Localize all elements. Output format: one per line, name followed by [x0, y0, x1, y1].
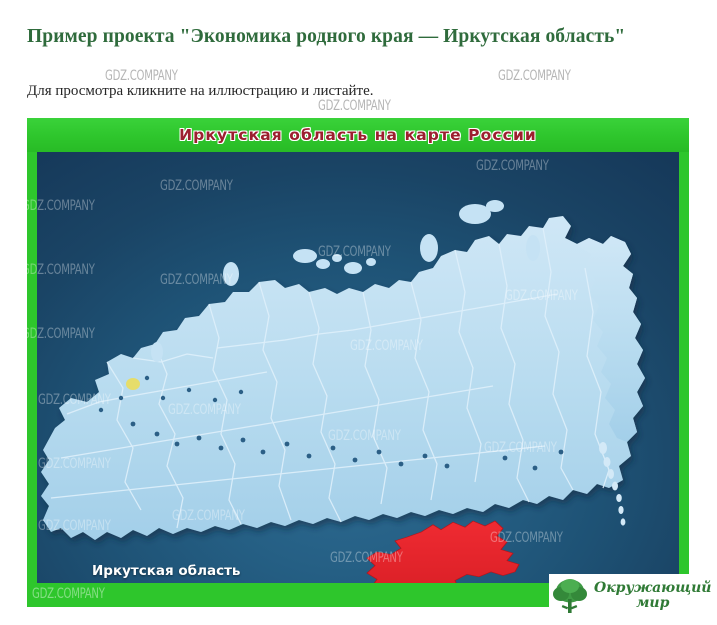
watermark: GDZ.COMPANY	[105, 68, 178, 84]
map-bottom-strip	[27, 583, 548, 607]
russia-map-graphic	[37, 152, 679, 583]
tree-icon	[549, 575, 591, 617]
watermark: GDZ.COMPANY	[318, 98, 391, 114]
map-canvas[interactable]	[37, 152, 679, 583]
russia-landmass	[41, 216, 645, 540]
brand-line-1: Окружающий	[594, 580, 711, 596]
map-illustration[interactable]: Иркутская область на карте России	[27, 118, 689, 607]
brand-line-2: мир	[594, 596, 711, 611]
capital-marker-moscow	[126, 378, 140, 390]
page-title: Пример проекта "Экономика родного края —…	[27, 24, 627, 49]
map-banner-title: Иркутская область на карте России	[179, 126, 537, 144]
watermark: GDZ.COMPANY	[498, 68, 571, 84]
irkutsk-region-highlight	[367, 521, 519, 583]
map-banner: Иркутская область на карте России	[27, 118, 689, 152]
map-region-label: Иркутская область	[92, 563, 240, 579]
brand-logo-text: Окружающий мир	[591, 581, 711, 611]
brand-logo[interactable]: Окружающий мир	[549, 574, 717, 618]
page-subtitle: Для просмотра кликните на иллюстрацию и …	[27, 83, 374, 100]
